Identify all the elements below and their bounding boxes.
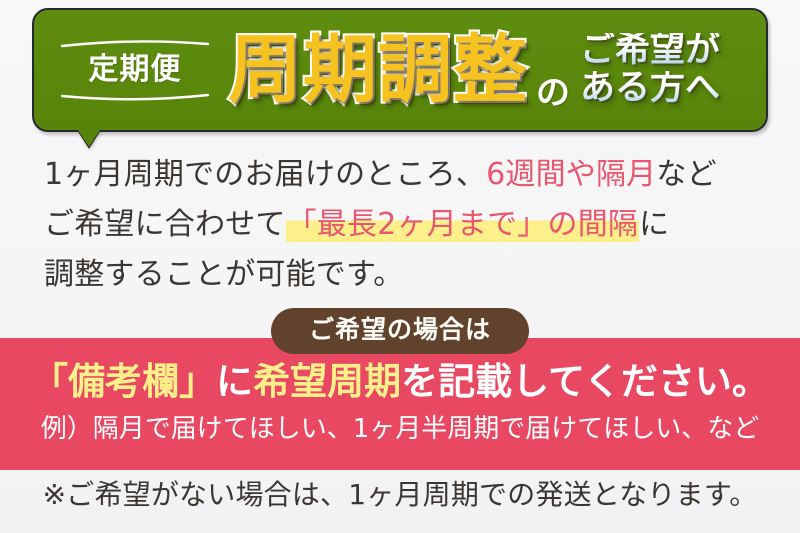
pink-band-example: 例）隔月で届けてほしい、1ヶ月半周期で届けてほしい、など [0, 415, 800, 445]
body-line-3: 調整することが可能です。 [44, 250, 756, 300]
body-line-2-part-1: ご希望に合わせて [44, 207, 286, 242]
header-content: 定期便 周期調整 の ご希望が ある方へ [32, 8, 768, 132]
pink-headline-part-2: に [216, 360, 253, 403]
body-line-2-highlight: 「最長2ヶ月まで」の間隔 [286, 207, 640, 242]
footer-note: ※ご希望がない場合は、1ヶ月周期での発送となります。 [0, 478, 800, 512]
speech-bubble-tail [78, 130, 100, 147]
header-section: 定期便 周期調整 の ご希望が ある方へ [0, 0, 800, 150]
body-line-1-accent: 6週間や隔月 [486, 157, 656, 192]
pink-callout-band: 「備考欄」に希望周期を記載してください。 例）隔月で届けてほしい、1ヶ月半周期で… [0, 338, 800, 470]
pink-headline-part-3: 希望周期 [253, 360, 401, 403]
swoosh-line-top-icon [60, 39, 210, 48]
body-paragraph: 1ヶ月周期でのお届けのところ、6週間や隔月など ご希望に合わせて「最長2ヶ月まで… [0, 150, 800, 300]
pink-headline-part-4: を記載してください。 [401, 360, 769, 403]
body-line-1-part-2: など [656, 157, 716, 192]
request-badge: ご希望の場合は [271, 308, 529, 354]
header-subtitle-line-1: ご希望が [580, 33, 720, 69]
body-line-2: ご希望に合わせて「最長2ヶ月まで」の間隔に [44, 200, 756, 250]
promo-banner: 定期便 周期調整 の ご希望が ある方へ 1ヶ月周期でのお届けのところ、6週間や… [0, 0, 800, 533]
subscription-tag: 定期便 [60, 55, 210, 85]
body-line-1-part-1: 1ヶ月周期でのお届けのところ、 [44, 157, 486, 192]
pink-headline-part-1: 「備考欄」 [31, 360, 216, 403]
header-subtitle-group: ご希望が ある方へ [580, 33, 720, 106]
badge-row: ご希望の場合は [0, 308, 800, 354]
subscription-tag-label: 定期便 [60, 55, 210, 85]
header-title: 周期調整 [228, 33, 528, 107]
body-line-1: 1ヶ月周期でのお届けのところ、6週間や隔月など [44, 150, 756, 200]
header-subtitle-line-2: ある方へ [580, 71, 720, 107]
swoosh-line-bottom-icon [60, 93, 210, 102]
pink-band-headline: 「備考欄」に希望周期を記載してください。 [0, 362, 800, 403]
body-line-2-part-2: に [639, 207, 669, 242]
header-particle: の [536, 76, 570, 132]
